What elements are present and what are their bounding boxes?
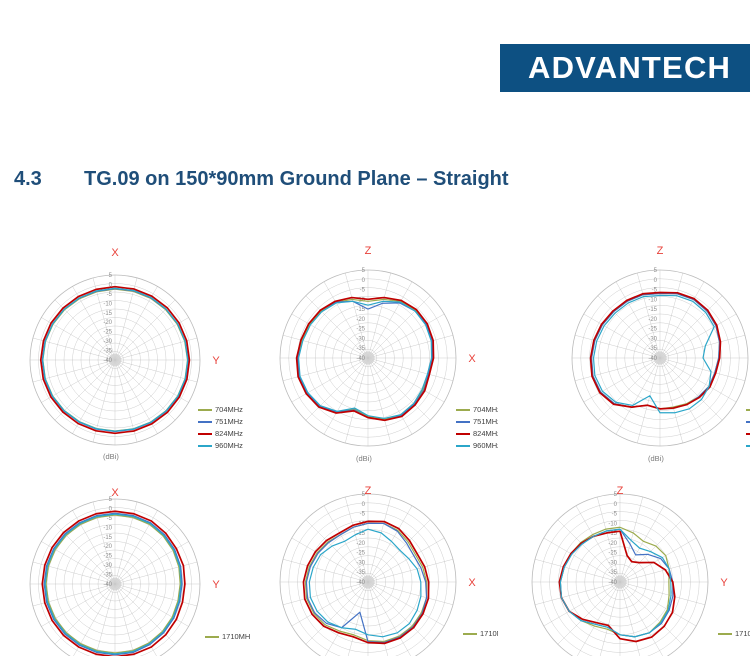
legend-color-swatch (463, 633, 477, 635)
legend-color-swatch (456, 409, 470, 411)
axis-label-top: Z (365, 485, 372, 497)
radial-tick-label: -20 (648, 317, 657, 323)
section-number: 4.3 (14, 168, 84, 191)
legend-color-swatch (456, 421, 470, 423)
legend-label: 751MHz (215, 416, 243, 428)
radial-tick-label: -20 (356, 541, 365, 547)
radial-tick-label: -5 (107, 516, 113, 522)
axis-label-right: X (468, 353, 476, 365)
legend-item: 960MHz (456, 440, 498, 452)
legend-label: 1710MHz (222, 631, 250, 643)
radial-tick-label: -5 (360, 512, 366, 518)
radial-tick-label: -25 (103, 330, 112, 336)
radial-unit-label: (dBi) (356, 454, 372, 463)
polar-grid: 50-5-10-15-20-25-30-35-40ZX (258, 476, 498, 656)
axis-label-top: X (111, 247, 119, 259)
radial-tick-label: -25 (356, 551, 365, 557)
radial-tick-label: -35 (103, 349, 112, 355)
radial-tick-label: -30 (356, 560, 365, 566)
radial-tick-label: -30 (103, 339, 112, 345)
radial-tick-label: -40 (648, 356, 657, 362)
legend-item: 1710MHz (463, 628, 498, 640)
polar-chart-zx-high: 50-5-10-15-20-25-30-35-40ZX1710MHz (258, 476, 498, 656)
radial-tick-label: -10 (608, 521, 617, 527)
axis-label-top: Z (657, 245, 664, 257)
legend-color-swatch (198, 433, 212, 435)
legend-color-swatch (746, 433, 750, 435)
radial-tick-label: -30 (356, 336, 365, 342)
advantech-logo: ADVANTECH (500, 44, 750, 92)
chart-legend: 704MHz751MHz824MHz960MHz (746, 404, 750, 452)
legend-item: 751MHz (198, 416, 243, 428)
legend-color-swatch (205, 636, 219, 638)
radial-tick-label: -20 (103, 544, 112, 550)
polar-chart-zy-high: 50-5-10-15-20-25-30-35-40ZY1710MHz (530, 476, 750, 656)
radial-tick-label: -35 (356, 570, 365, 576)
radial-tick-label: -15 (103, 311, 112, 317)
legend-label: 824MHz (215, 428, 243, 440)
radial-tick-label: -25 (103, 554, 112, 560)
radial-tick-label: -40 (356, 356, 365, 362)
legend-color-swatch (718, 633, 732, 635)
legend-item: 960MHz (746, 440, 750, 452)
radial-unit-label: (dBi) (103, 452, 119, 461)
radial-tick-label: -10 (648, 297, 657, 303)
radial-unit-label: (dBi) (648, 454, 664, 463)
axis-label-top: Z (365, 245, 372, 257)
legend-item: 751MHz (746, 416, 750, 428)
advantech-logo-text: ADVANTECH (528, 50, 731, 86)
legend-item: 824MHz (198, 428, 243, 440)
legend-label: 960MHz (473, 440, 498, 452)
radial-tick-label: -15 (356, 307, 365, 313)
radial-tick-label: -10 (103, 525, 112, 531)
chart-legend: 704MHz751MHz824MHz960MHz (456, 404, 498, 452)
radial-tick-label: -15 (103, 535, 112, 541)
legend-color-swatch (198, 445, 212, 447)
radial-tick-label: 5 (362, 268, 366, 274)
radial-tick-label: -35 (648, 346, 657, 352)
radial-tick-label: 5 (654, 268, 658, 274)
legend-item: 960MHz (198, 440, 243, 452)
axis-label-right: X (468, 577, 476, 589)
legend-color-swatch (456, 445, 470, 447)
legend-color-swatch (746, 421, 750, 423)
radial-tick-label: -35 (356, 346, 365, 352)
axis-label-top: Z (617, 485, 624, 497)
legend-color-swatch (456, 433, 470, 435)
radial-tick-label: -35 (103, 573, 112, 579)
polar-chart-xy-low: 50-5-10-15-20-25-30-35-40XY(dBi)704MHz75… (10, 236, 250, 474)
legend-label: 824MHz (473, 428, 498, 440)
legend-item: 751MHz (456, 416, 498, 428)
radial-tick-label: -40 (356, 580, 365, 586)
legend-label: 1710MHz (735, 628, 750, 640)
polar-grid: 50-5-10-15-20-25-30-35-40ZY (530, 476, 750, 656)
polar-chart-zx-low: 50-5-10-15-20-25-30-35-40ZX(dBi)704MHz75… (258, 236, 498, 474)
radial-tick-label: -5 (612, 512, 618, 518)
section-heading-text: TG.09 on 150*90mm Ground Plane – Straigh… (84, 168, 509, 190)
legend-label: 960MHz (215, 440, 243, 452)
axis-label-right: Y (212, 579, 220, 591)
legend-color-swatch (198, 421, 212, 423)
polar-chart-zy-low: 50-5-10-15-20-25-30-35-40ZY(dBi)704MHz75… (556, 236, 750, 474)
legend-label: 1710MHz (480, 628, 498, 640)
legend-color-swatch (198, 409, 212, 411)
polar-grid: 50-5-10-15-20-25-30-35-40ZY (556, 236, 750, 474)
legend-item: 704MHz (456, 404, 498, 416)
radial-tick-label: 5 (109, 273, 113, 279)
radial-tick-label: -20 (103, 320, 112, 326)
legend-color-swatch (746, 445, 750, 447)
axis-label-right: Y (212, 355, 220, 367)
legend-item: 1710MHz (718, 628, 750, 640)
chart-legend: 1710MHz (718, 628, 750, 640)
radial-tick-label: -35 (608, 570, 617, 576)
radial-tick-label: -40 (103, 358, 112, 364)
legend-item: 704MHz (198, 404, 243, 416)
polar-chart-xy-high: 50-5-10-15-20-25-30-35-40XY1710MHz (10, 476, 250, 656)
radial-tick-label: -20 (356, 317, 365, 323)
chart-legend: 1710MHz (463, 628, 498, 640)
radial-tick-label: -25 (608, 551, 617, 557)
legend-item: 704MHz (746, 404, 750, 416)
axis-label-top: X (111, 487, 119, 499)
axis-label-right: Y (720, 577, 728, 589)
legend-label: 751MHz (473, 416, 498, 428)
legend-item: 1710MHz (205, 631, 250, 643)
legend-item: 824MHz (456, 428, 498, 440)
radial-tick-label: -10 (103, 301, 112, 307)
legend-label: 704MHz (215, 404, 243, 416)
radial-tick-label: -30 (103, 563, 112, 569)
radial-tick-label: -40 (103, 582, 112, 588)
radial-tick-label: -20 (608, 541, 617, 547)
radial-tick-label: -30 (648, 336, 657, 342)
polar-grid: 50-5-10-15-20-25-30-35-40XY (10, 476, 250, 656)
radial-tick-label: -5 (107, 292, 113, 298)
radial-tick-label: -5 (360, 288, 366, 294)
legend-color-swatch (746, 409, 750, 411)
chart-legend: 704MHz751MHz824MHz960MHz (198, 404, 243, 452)
radial-tick-label: -25 (648, 327, 657, 333)
radial-tick-label: -15 (648, 307, 657, 313)
chart-legend: 1710MHz (205, 631, 250, 643)
radial-tick-label: -25 (356, 327, 365, 333)
legend-item: 824MHz (746, 428, 750, 440)
page-title: 4.3TG.09 on 150*90mm Ground Plane – Stra… (14, 168, 714, 196)
radial-tick-label: -30 (608, 560, 617, 566)
legend-label: 704MHz (473, 404, 498, 416)
radial-tick-label: -40 (608, 580, 617, 586)
